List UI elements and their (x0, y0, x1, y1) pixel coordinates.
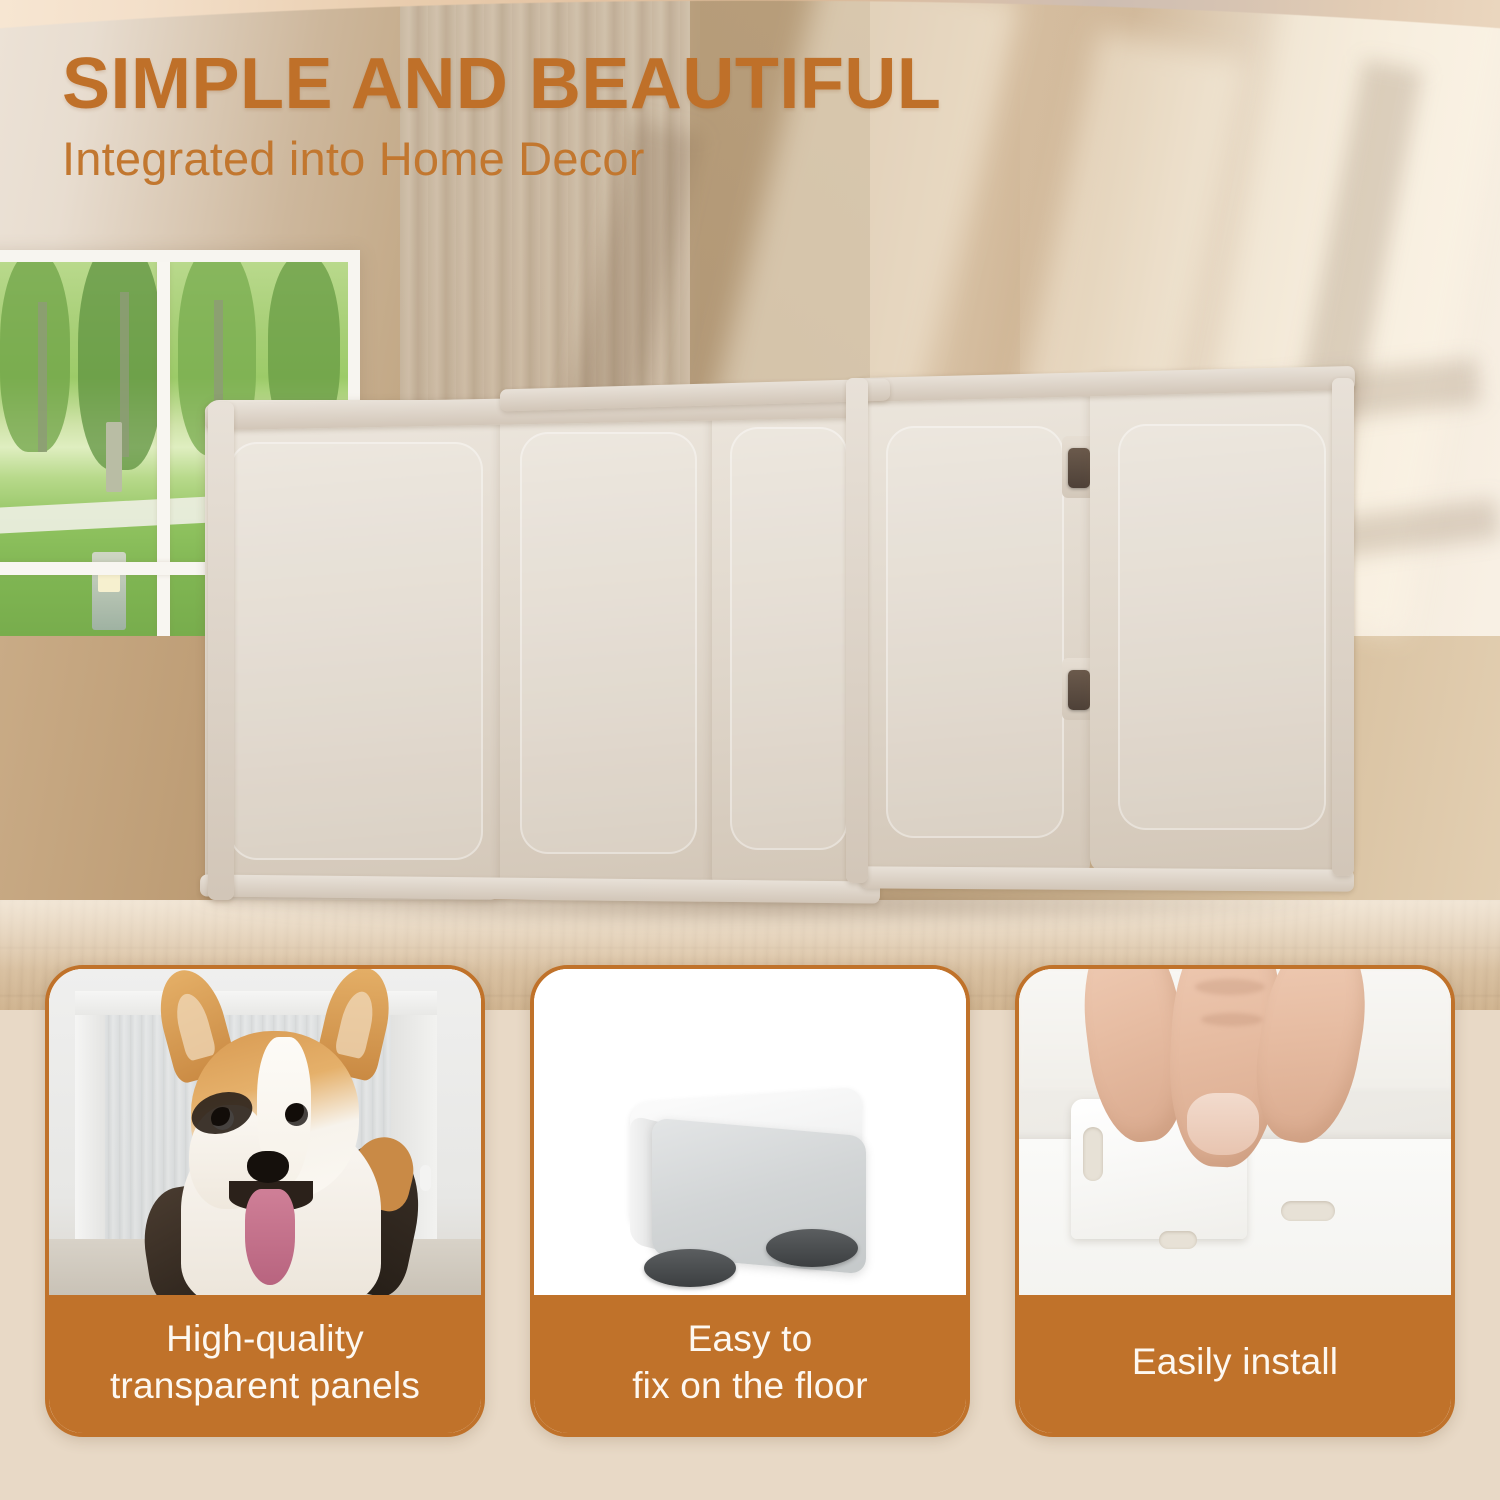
dog-eye-left (211, 1107, 234, 1130)
page-title: SIMPLE AND BEAUTIFUL (62, 48, 941, 121)
base-rail-right (860, 866, 1354, 891)
feature-card-row: High-quality transparent panels Easy to … (0, 965, 1500, 1445)
transparent-panel (1118, 424, 1326, 830)
playpen-panel-left (205, 400, 505, 900)
corgi-dog (129, 975, 419, 1295)
knuckle-crease (1201, 1013, 1263, 1026)
card-media-corgi (49, 969, 481, 1295)
playpen-door-panel[interactable] (860, 378, 1090, 878)
card-caption-transparent-panels: High-quality transparent panels (49, 1295, 481, 1433)
card-caption-easy-install: Easily install (1019, 1295, 1451, 1433)
suction-foot-left (644, 1249, 736, 1287)
page-subtitle: Integrated into Home Decor (62, 130, 941, 189)
header-text-block: SIMPLE AND BEAUTIFUL Integrated into Hom… (62, 48, 941, 189)
clip-slot (1159, 1231, 1197, 1249)
suction-foot-right (766, 1229, 858, 1267)
corner-post-left (208, 402, 234, 900)
dog-eye-right (285, 1103, 308, 1126)
corner-post-center (846, 378, 868, 883)
fingernail (1187, 1093, 1259, 1155)
door-hinge-top-icon[interactable] (1068, 448, 1090, 488)
door-hinge-bottom-icon[interactable] (1068, 670, 1090, 710)
transparent-panel (520, 432, 697, 854)
knuckle-crease (1195, 979, 1265, 995)
playpen-panel-right (1090, 372, 1352, 872)
feature-card-floor-fixing[interactable]: Easy to fix on the floor (530, 965, 970, 1437)
hand (1075, 969, 1415, 1221)
corner-post-right (1332, 378, 1354, 876)
transparent-panel (886, 426, 1064, 838)
transparent-panel (730, 427, 848, 850)
card-caption-floor-fixing: Easy to fix on the floor (534, 1295, 966, 1433)
feature-card-easy-install[interactable]: Easily install (1015, 965, 1455, 1437)
product-feature-graphic: SIMPLE AND BEAUTIFUL Integrated into Hom… (0, 0, 1500, 1500)
playpen-panel-mid-right (712, 385, 864, 890)
card-media-install (1019, 969, 1451, 1295)
dog-tongue (245, 1189, 295, 1285)
panel-knob (420, 1165, 431, 1191)
playpen-panel-mid-left (500, 392, 715, 892)
feature-card-transparent-panels[interactable]: High-quality transparent panels (45, 965, 485, 1437)
card-media-bracket (534, 969, 966, 1295)
transparent-panel (229, 442, 483, 860)
dog-nose (247, 1151, 289, 1183)
floor-bracket (616, 1089, 896, 1295)
